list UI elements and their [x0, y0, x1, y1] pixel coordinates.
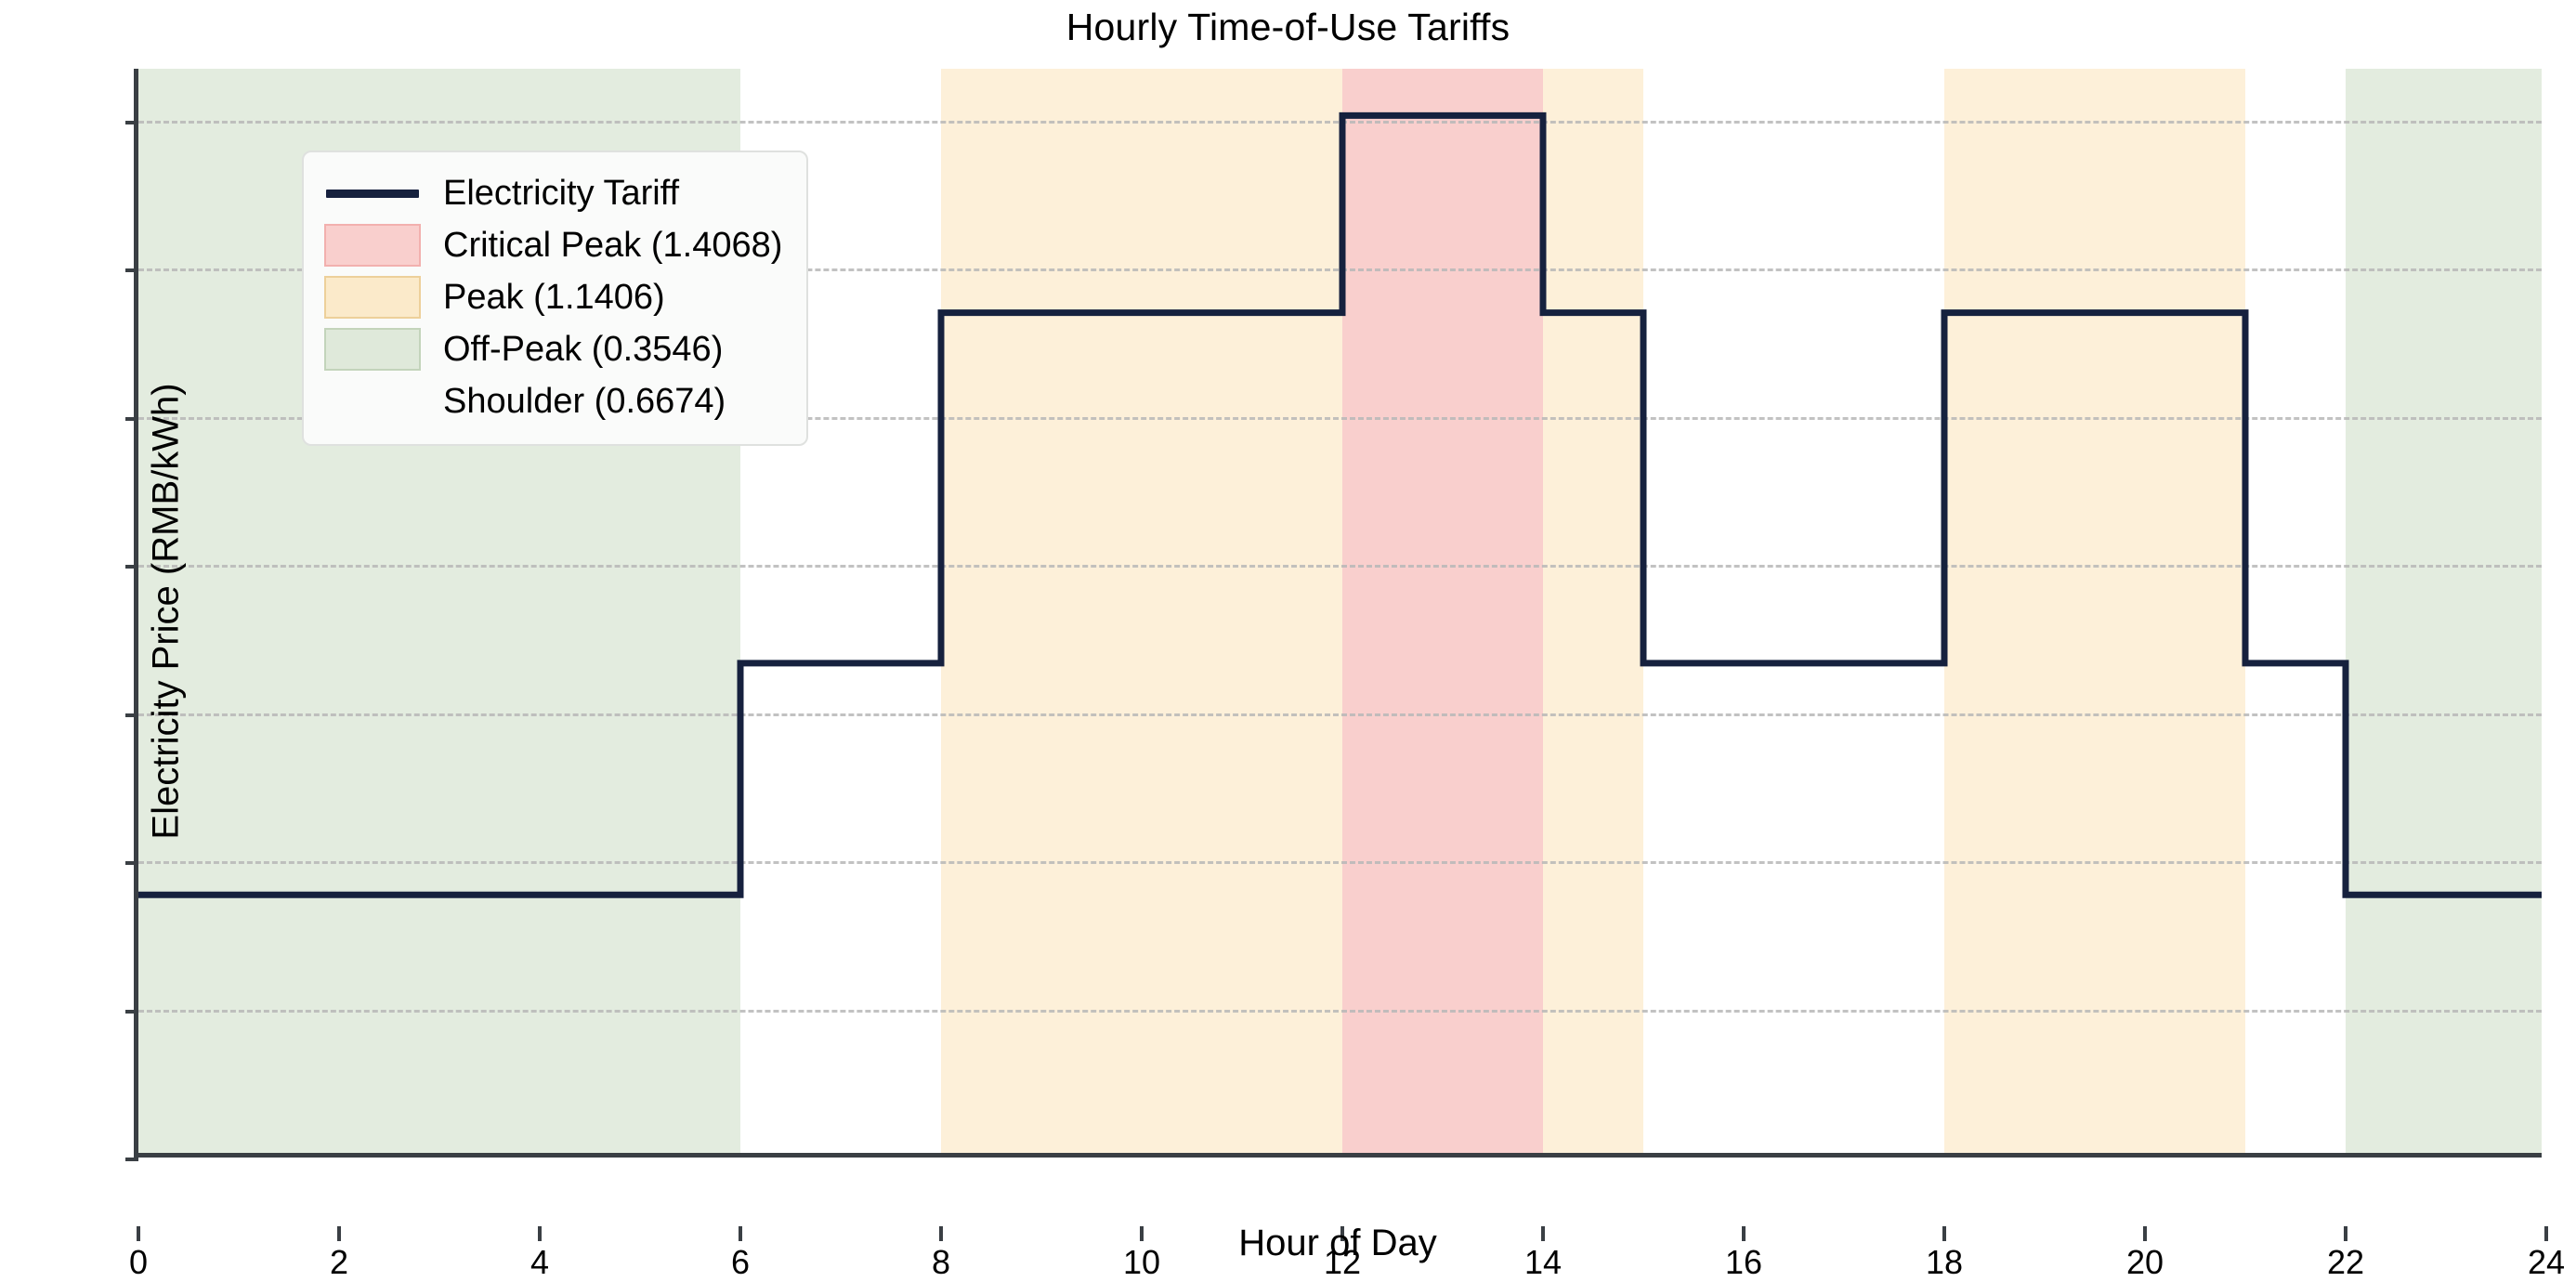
chart-figure: Hourly Time-of-Use Tariffs 0.00.20.40.60…	[0, 0, 2576, 1274]
y-tick-mark	[125, 1010, 138, 1014]
legend-color-swatch	[324, 328, 421, 371]
legend-color-swatch	[324, 276, 421, 319]
y-axis-label: Electricity Price (RMB/kWh)	[146, 67, 188, 1156]
page-title: Hourly Time-of-Use Tariffs	[0, 6, 2576, 49]
y-tick-mark	[125, 268, 138, 272]
legend-item-label: Off-Peak (0.3546)	[443, 332, 723, 367]
y-tick-mark	[125, 861, 138, 865]
y-tick-mark	[125, 1158, 138, 1161]
legend-line-swatch	[324, 172, 421, 215]
legend-blank-swatch	[324, 380, 421, 423]
legend-item[interactable]: Off-Peak (0.3546)	[324, 323, 782, 375]
legend-item[interactable]: Peak (1.1406)	[324, 271, 782, 323]
y-tick-mark	[125, 121, 138, 124]
x-tick-mark	[2544, 1226, 2548, 1241]
chart-legend: Electricity TariffCritical Peak (1.4068)…	[302, 150, 808, 446]
legend-item-label: Critical Peak (1.4068)	[443, 228, 782, 263]
legend-item-label: Peak (1.1406)	[443, 280, 665, 315]
plot-area: 0.00.20.40.60.81.01.21.4 024681012141618…	[134, 69, 2542, 1158]
x-axis-label: Hour of Day	[134, 1223, 2542, 1264]
legend-item[interactable]: Electricity Tariff	[324, 167, 782, 219]
legend-item-label: Shoulder (0.6674)	[443, 384, 726, 419]
legend-item[interactable]: Shoulder (0.6674)	[324, 375, 782, 427]
y-tick-mark	[125, 417, 138, 421]
y-tick-mark	[125, 565, 138, 569]
legend-item-label: Electricity Tariff	[443, 176, 679, 211]
legend-item[interactable]: Critical Peak (1.4068)	[324, 219, 782, 271]
y-tick-mark	[125, 713, 138, 717]
legend-color-swatch	[324, 224, 421, 267]
